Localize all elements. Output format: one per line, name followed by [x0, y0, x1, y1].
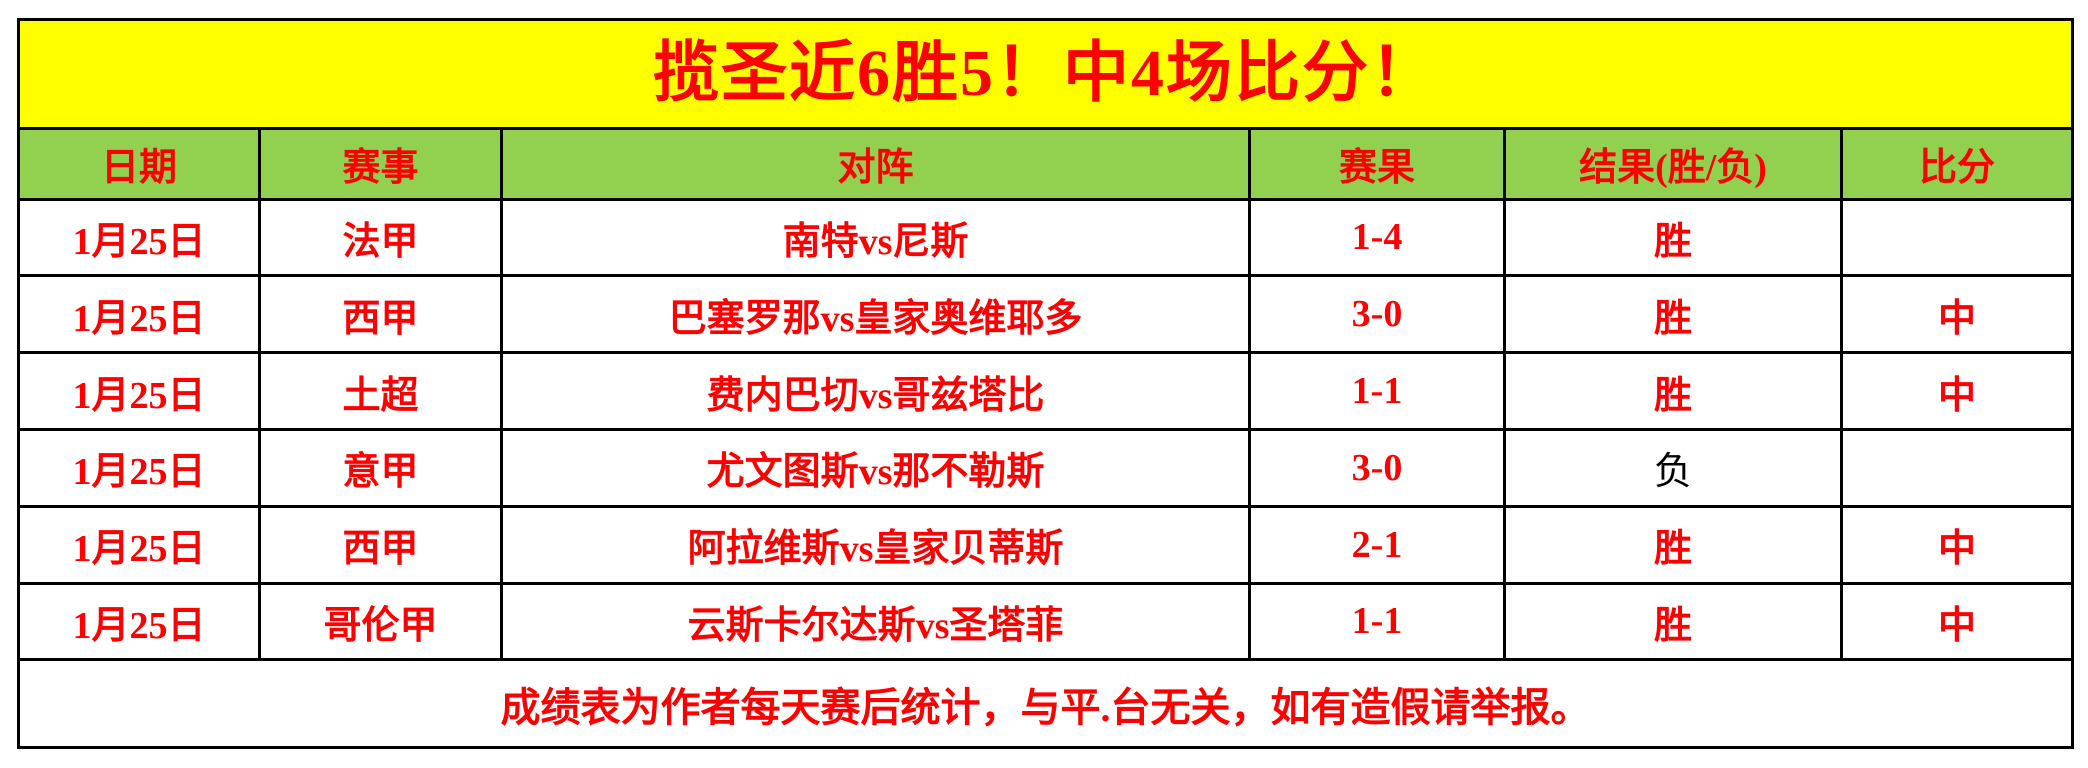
cell-date: 1月25日	[19, 276, 260, 353]
status-badge: 胜	[1505, 583, 1842, 660]
cell-hit: 中	[1842, 276, 2073, 353]
cell-date: 1月25日	[19, 199, 260, 276]
cell-hit-text: 中	[1938, 375, 1976, 417]
cell-score-text: 3-0	[1352, 293, 1403, 335]
cell-score-text: 1-4	[1352, 216, 1403, 258]
cell-date-text: 1月25日	[72, 298, 205, 340]
cell-score: 1-1	[1250, 583, 1505, 660]
cell-date: 1月25日	[19, 353, 260, 430]
cell-league-text: 哥伦甲	[323, 605, 437, 647]
cell-match: 南特vs尼斯	[502, 199, 1250, 276]
cell-result-text: 胜	[1654, 298, 1692, 340]
cell-result-text: 胜	[1654, 528, 1692, 570]
cell-score: 3-0	[1250, 276, 1505, 353]
cell-score: 3-0	[1250, 429, 1505, 506]
column-header-label: 比分	[1919, 147, 1995, 189]
column-header-result: 结果(胜/负)	[1505, 129, 1842, 199]
title-banner: 揽圣近6胜5！中4场比分！	[19, 20, 2073, 129]
cell-score: 1-4	[1250, 199, 1505, 276]
header-row: 日期 赛事 对阵 赛果 结果(胜/负) 比分	[19, 129, 2073, 199]
status-badge: 胜	[1505, 506, 1842, 583]
cell-result-text: 负	[1654, 451, 1692, 493]
cell-hit	[1842, 199, 2073, 276]
cell-match: 阿拉维斯vs皇家贝蒂斯	[502, 506, 1250, 583]
footer-note-cell: 成绩表为作者每天赛后统计，与平.台无关，如有造假请举报。	[19, 660, 2073, 748]
cell-league: 土超	[260, 353, 502, 430]
column-header-score: 赛果	[1250, 129, 1505, 199]
cell-date: 1月25日	[19, 429, 260, 506]
cell-score-text: 2-1	[1352, 524, 1403, 566]
column-header-league: 赛事	[260, 129, 502, 199]
cell-league: 意甲	[260, 429, 502, 506]
page-title: 揽圣近6胜5！中4场比分！	[653, 37, 1438, 110]
score-sheet: 揽圣近6胜5！中4场比分！ 日期 赛事 对阵 赛果 结果(胜/负)	[17, 18, 2071, 749]
footer-row: 成绩表为作者每天赛后统计，与平.台无关，如有造假请举报。	[19, 660, 2073, 748]
column-header-label: 赛事	[342, 147, 418, 189]
column-header-label: 对阵	[837, 147, 913, 189]
table-row: 1月25日意甲尤文图斯vs那不勒斯3-0负	[19, 429, 2073, 506]
cell-hit: 中	[1842, 506, 2073, 583]
status-badge: 胜	[1505, 353, 1842, 430]
cell-league: 西甲	[260, 276, 502, 353]
table-row: 1月25日哥伦甲云斯卡尔达斯vs圣塔菲1-1胜中	[19, 583, 2073, 660]
column-header-match: 对阵	[502, 129, 1250, 199]
cell-date: 1月25日	[19, 583, 260, 660]
cell-match: 云斯卡尔达斯vs圣塔菲	[502, 583, 1250, 660]
cell-hit-text: 中	[1938, 528, 1976, 570]
column-header-label: 日期	[101, 147, 177, 189]
cell-score: 1-1	[1250, 353, 1505, 430]
cell-hit: 中	[1842, 353, 2073, 430]
cell-match: 费内巴切vs哥兹塔比	[502, 353, 1250, 430]
cell-result-text: 胜	[1654, 375, 1692, 417]
cell-date-text: 1月25日	[72, 451, 205, 493]
table-row: 1月25日西甲巴塞罗那vs皇家奥维耶多3-0胜中	[19, 276, 2073, 353]
cell-hit: 中	[1842, 583, 2073, 660]
status-badge: 胜	[1505, 276, 1842, 353]
column-header-label: 结果(胜/负)	[1579, 147, 1767, 189]
cell-league-text: 土超	[342, 375, 418, 417]
cell-score-text: 1-1	[1352, 600, 1403, 642]
cell-league: 西甲	[260, 506, 502, 583]
table-row: 1月25日土超费内巴切vs哥兹塔比1-1胜中	[19, 353, 2073, 430]
status-badge: 胜	[1505, 199, 1842, 276]
cell-match: 尤文图斯vs那不勒斯	[502, 429, 1250, 506]
table-row: 1月25日西甲阿拉维斯vs皇家贝蒂斯2-1胜中	[19, 506, 2073, 583]
status-badge: 负	[1505, 429, 1842, 506]
match-results-table: 揽圣近6胜5！中4场比分！ 日期 赛事 对阵 赛果 结果(胜/负)	[17, 18, 2074, 749]
cell-score-text: 3-0	[1352, 447, 1403, 489]
title-row: 揽圣近6胜5！中4场比分！	[19, 20, 2073, 129]
cell-date: 1月25日	[19, 506, 260, 583]
cell-date-text: 1月25日	[72, 528, 205, 570]
cell-league-text: 意甲	[342, 451, 418, 493]
cell-league-text: 法甲	[342, 221, 418, 263]
column-header-label: 赛果	[1339, 147, 1415, 189]
column-header-hit: 比分	[1842, 129, 2073, 199]
cell-hit	[1842, 429, 2073, 506]
cell-date-text: 1月25日	[72, 605, 205, 647]
cell-date-text: 1月25日	[72, 221, 205, 263]
cell-league: 法甲	[260, 199, 502, 276]
cell-match: 巴塞罗那vs皇家奥维耶多	[502, 276, 1250, 353]
cell-league-text: 西甲	[342, 528, 418, 570]
cell-hit-text: 中	[1938, 605, 1976, 647]
cell-league: 哥伦甲	[260, 583, 502, 660]
cell-score: 2-1	[1250, 506, 1505, 583]
cell-hit-text: 中	[1938, 298, 1976, 340]
cell-match-text: 南特vs尼斯	[783, 221, 969, 263]
cell-match-text: 尤文图斯vs那不勒斯	[707, 451, 1045, 493]
cell-result-text: 胜	[1654, 221, 1692, 263]
footer-note: 成绩表为作者每天赛后统计，与平.台无关，如有造假请举报。	[501, 685, 1591, 730]
column-header-date: 日期	[19, 129, 260, 199]
cell-score-text: 1-1	[1352, 370, 1403, 412]
cell-match-text: 巴塞罗那vs皇家奥维耶多	[669, 298, 1083, 340]
cell-match-text: 云斯卡尔达斯vs圣塔菲	[688, 605, 1064, 647]
table-row: 1月25日法甲南特vs尼斯1-4胜	[19, 199, 2073, 276]
cell-match-text: 阿拉维斯vs皇家贝蒂斯	[688, 528, 1064, 570]
cell-date-text: 1月25日	[72, 375, 205, 417]
cell-match-text: 费内巴切vs哥兹塔比	[707, 375, 1045, 417]
cell-league-text: 西甲	[342, 298, 418, 340]
cell-result-text: 胜	[1654, 605, 1692, 647]
